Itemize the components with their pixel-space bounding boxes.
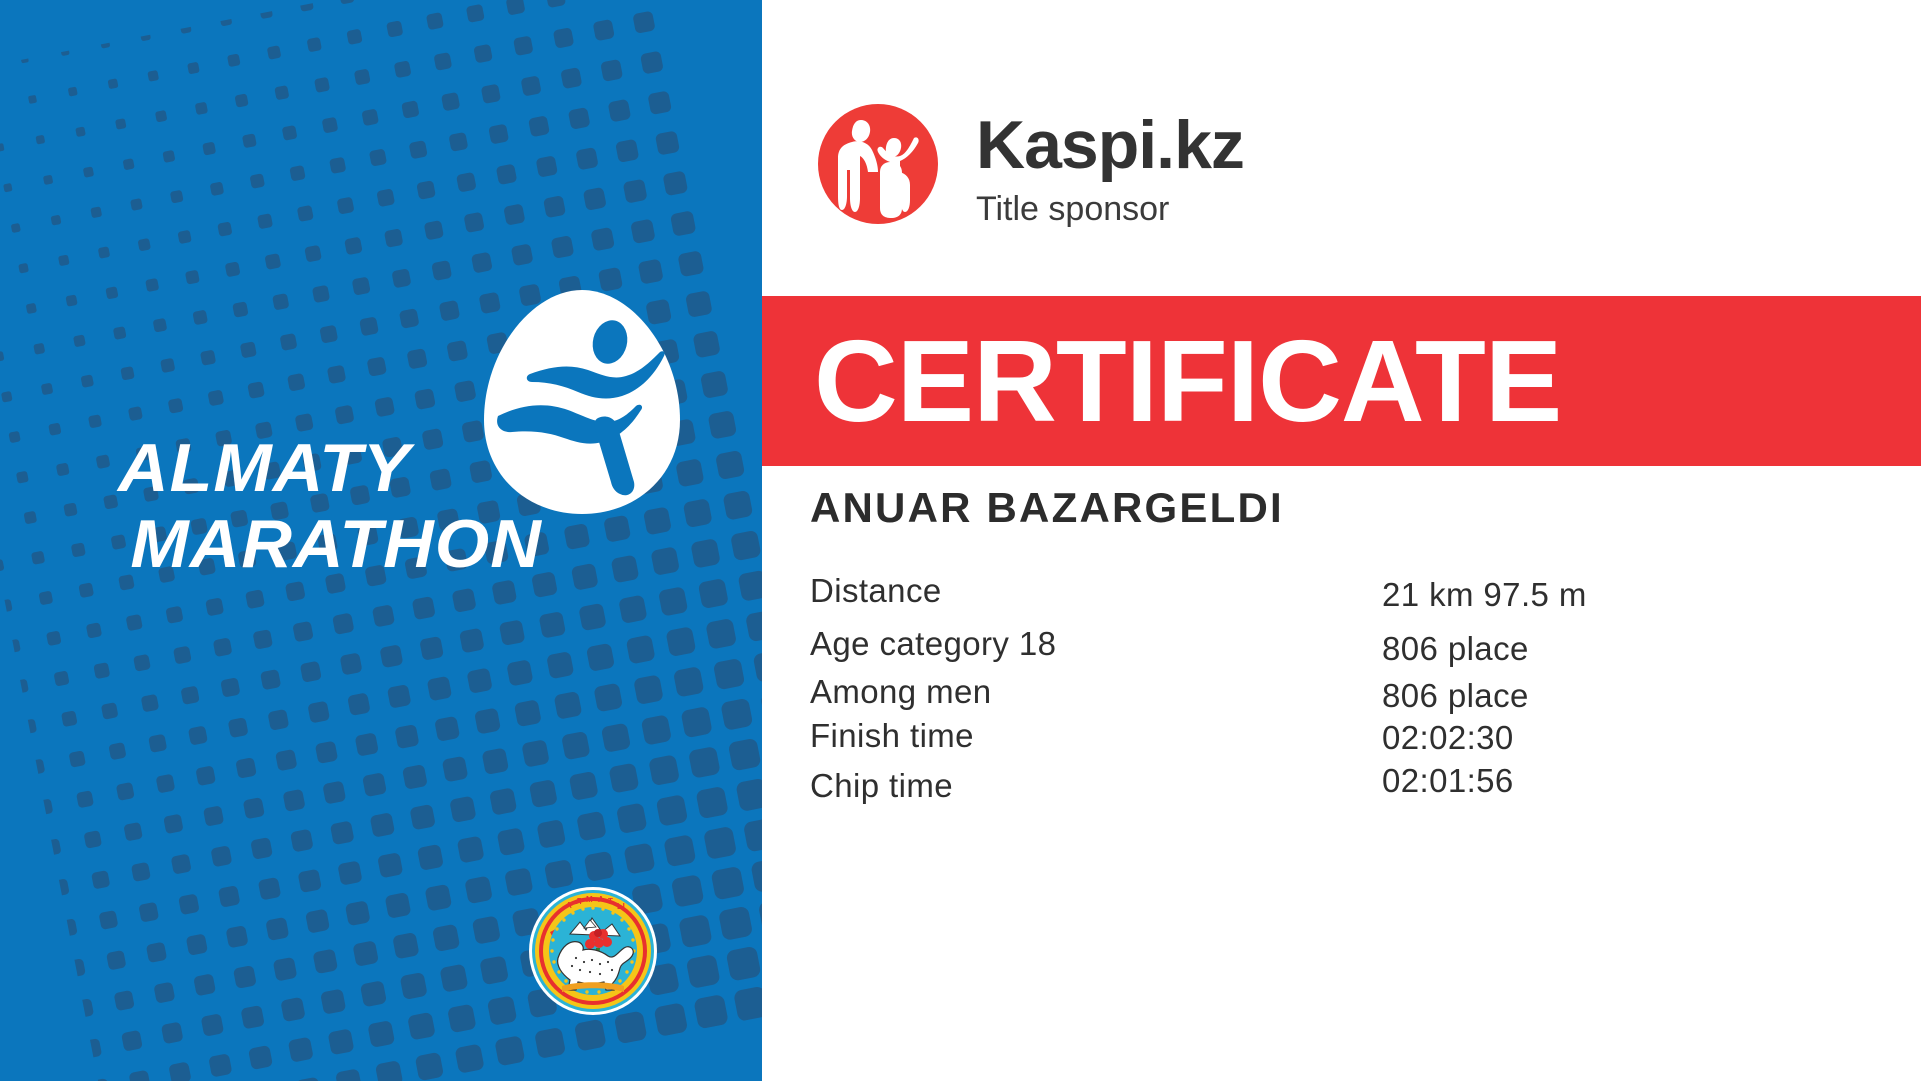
table-row: Age category 18 806 place: [810, 625, 1840, 673]
result-value: 02:01:56: [1382, 762, 1514, 800]
svg-text:А: А: [566, 901, 572, 910]
result-value: 02:02:30: [1382, 719, 1514, 757]
wordmark-marathon: MARATHON: [118, 506, 602, 582]
table-row: Distance 21 km 97.5 m: [810, 572, 1840, 625]
sponsor-role: Title sponsor: [976, 188, 1244, 230]
result-value: 806 place: [1382, 677, 1529, 715]
athlete-name: ANUAR BAZARGELDI: [810, 484, 1284, 532]
certificate-title: CERTIFICATE: [814, 323, 1561, 439]
result-label: Among men: [810, 673, 992, 711]
kaspi-family-circle-icon: [814, 100, 942, 228]
svg-text:А: А: [598, 895, 604, 904]
sponsor-text-group: Kaspi.kz Title sponsor: [976, 100, 1244, 230]
certificate-title-band: CERTIFICATE: [762, 296, 1921, 466]
result-value: 21 km 97.5 m: [1382, 576, 1587, 614]
result-label: Age category 18: [810, 625, 1056, 663]
marathon-wordmark: ALMATY MARATHON: [118, 430, 588, 582]
result-value: 806 place: [1382, 630, 1529, 668]
result-label: Finish time: [810, 717, 974, 755]
result-label: Distance: [810, 572, 942, 610]
sponsor-name: Kaspi.kz: [976, 108, 1244, 182]
table-row: Chip time 02:01:56: [810, 765, 1840, 815]
title-sponsor-block: Kaspi.kz Title sponsor: [814, 100, 1244, 230]
almaty-city-coat-of-arms-icon: АЛМ АТЫ: [528, 886, 658, 1016]
almaty-marathon-logo: ALMATY MARATHON: [118, 286, 698, 616]
table-row: Finish time 02:02:30: [810, 717, 1840, 765]
svg-text:М: М: [586, 895, 593, 904]
table-row: Among men 806 place: [810, 673, 1840, 717]
svg-text:Т: Т: [608, 897, 613, 906]
result-label: Chip time: [810, 767, 953, 805]
right-content-panel: Kaspi.kz Title sponsor: [762, 0, 1921, 1081]
svg-text:Ы: Ы: [617, 902, 625, 911]
left-branding-panel: ALMATY MARATHON: [0, 0, 762, 1081]
wordmark-almaty: ALMATY: [118, 430, 602, 506]
certificate-page: ALMATY MARATHON: [0, 0, 1921, 1081]
results-table: Distance 21 km 97.5 m Age category 18 80…: [810, 572, 1840, 815]
svg-text:Л: Л: [576, 897, 582, 906]
